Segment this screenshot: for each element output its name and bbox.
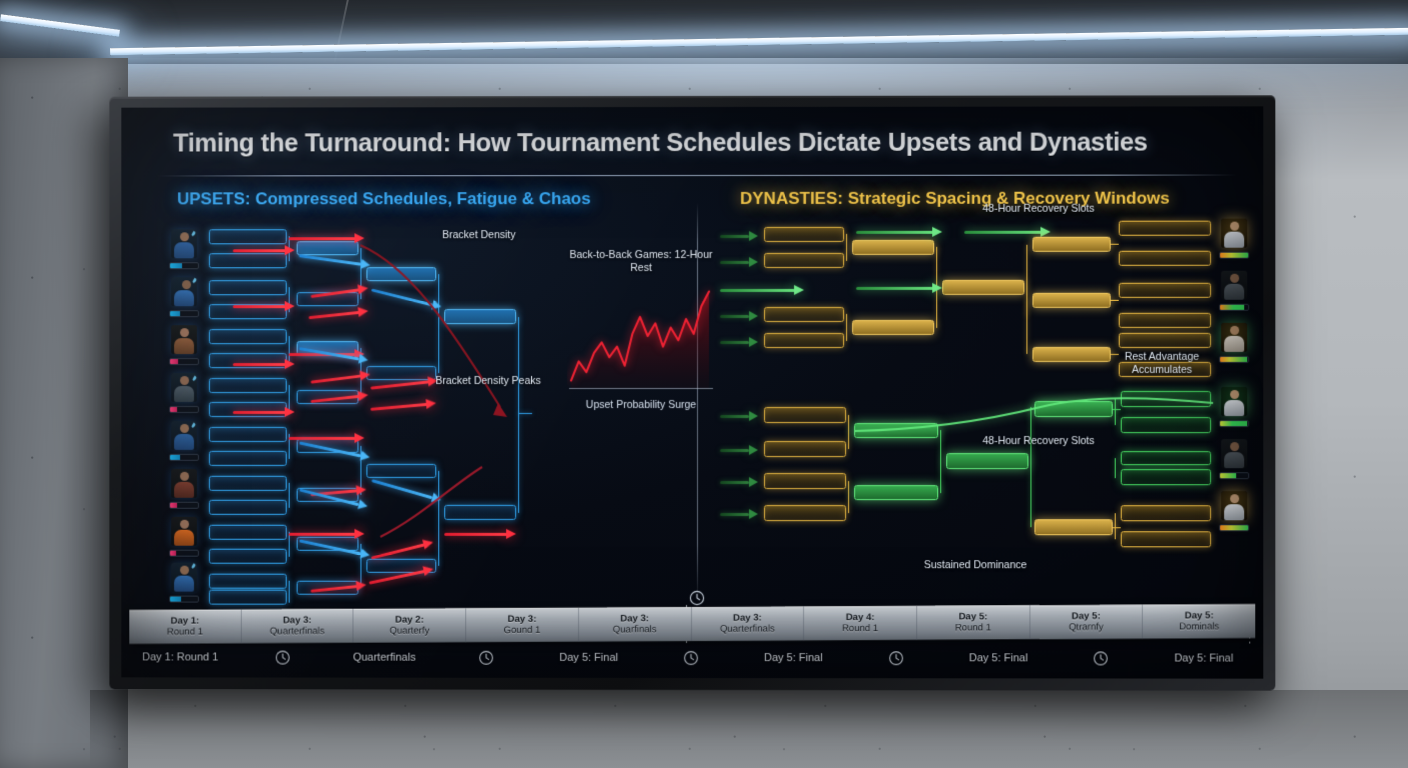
bracket-slot bbox=[764, 473, 846, 489]
timeline-segment-round: Quarterfy bbox=[390, 625, 430, 637]
bracket-slot bbox=[1119, 313, 1211, 328]
timeline-segment[interactable]: Day 4:Round 1 bbox=[804, 606, 917, 641]
upset-arrow bbox=[233, 409, 295, 416]
bracket-slot bbox=[764, 407, 846, 423]
stamina-bar bbox=[1219, 252, 1249, 259]
timeline-segment-day: Day 3: bbox=[283, 614, 312, 626]
title-divider bbox=[157, 175, 1237, 177]
bracket-slot bbox=[852, 320, 934, 335]
timeline-segment-day: Day 5: bbox=[1185, 610, 1214, 622]
timeline-sub-label: Day 5: Final bbox=[947, 652, 1050, 664]
recovery-arrow bbox=[856, 229, 942, 236]
avatar bbox=[169, 563, 199, 603]
bracket-slot bbox=[764, 441, 846, 457]
bracket-slot bbox=[852, 240, 934, 255]
clock-icon bbox=[640, 650, 742, 666]
ceiling-seam bbox=[333, 0, 349, 64]
bracket-slot bbox=[1119, 251, 1211, 266]
bracket-connector bbox=[289, 385, 290, 410]
left-panel-upsets: Bracket Density Bracket Density Peaks Ba… bbox=[121, 106, 1263, 107]
recovery-arrow bbox=[856, 285, 942, 292]
bracket-connector bbox=[848, 481, 849, 513]
display-screen: Timing the Turnaround: How Tournament Sc… bbox=[121, 106, 1263, 678]
timeline-segment[interactable]: Day 3:Gound 1 bbox=[466, 608, 579, 643]
bracket-slot bbox=[1034, 519, 1112, 535]
entry-arrow bbox=[720, 447, 758, 454]
bracket-slot bbox=[1032, 237, 1110, 252]
bracket-slot bbox=[209, 280, 287, 295]
timeline-segment[interactable]: Day 5:Qtrarnfy bbox=[1030, 605, 1143, 640]
stamina-bar bbox=[169, 596, 199, 603]
bracket-slot bbox=[764, 227, 844, 242]
stamina-bar bbox=[169, 262, 199, 269]
entry-arrow bbox=[720, 413, 758, 420]
recovery-arrow bbox=[964, 229, 1050, 236]
clock-icon bbox=[231, 650, 333, 666]
timeline-segment-day: Day 5: bbox=[1072, 610, 1101, 622]
bracket-slot bbox=[209, 427, 287, 442]
room-scene: Timing the Turnaround: How Tournament Sc… bbox=[0, 0, 1408, 768]
entry-arrow bbox=[720, 233, 758, 240]
stamina-bar bbox=[169, 550, 199, 557]
entry-arrow bbox=[720, 313, 758, 320]
bracket-slot bbox=[1119, 283, 1211, 298]
bracket-slot bbox=[764, 307, 844, 322]
bracket-connector bbox=[289, 483, 290, 508]
bracket-connector bbox=[1111, 244, 1119, 245]
timeline-sub-row: Day 1: Round 1QuarterfinalsDay 5: FinalD… bbox=[129, 646, 1255, 669]
left-panel-heading: UPSETS: Compressed Schedules, Fatigue & … bbox=[177, 189, 591, 209]
bracket-connector bbox=[1115, 513, 1116, 539]
stamina-bar bbox=[169, 406, 199, 413]
stamina-bar bbox=[1219, 304, 1249, 311]
entry-arrow bbox=[720, 287, 804, 294]
stamina-bar bbox=[169, 454, 199, 461]
timeline-segment[interactable]: Day 2:Quarterfy bbox=[354, 608, 466, 643]
label-rest-advantage: Rest Advantage Accumulates bbox=[1097, 351, 1227, 377]
avatar bbox=[169, 517, 199, 557]
timeline-segment[interactable]: Day 3:Quarterfinals bbox=[242, 609, 354, 644]
timeline-sub-label: Day 1: Round 1 bbox=[129, 651, 231, 663]
upset-curve-group bbox=[350, 237, 540, 497]
right-panel-dynasties: 48-Hour Recovery Slots bbox=[121, 106, 1263, 107]
bracket-slot bbox=[209, 525, 287, 540]
bracket-slot bbox=[209, 451, 287, 466]
chart-baseline bbox=[569, 388, 713, 389]
stamina-bar bbox=[169, 310, 199, 317]
timeline-segment-day: Day 5: bbox=[959, 611, 988, 623]
bracket-slot bbox=[209, 590, 287, 605]
stamina-bar bbox=[1219, 472, 1249, 479]
stamina-bar bbox=[1219, 524, 1249, 531]
avatar bbox=[169, 421, 199, 461]
bracket-slot bbox=[854, 485, 938, 500]
timeline-segment-round: Round 1 bbox=[955, 622, 991, 634]
bracket-slot bbox=[209, 329, 287, 344]
timeline-sub-label: Quarterfinals bbox=[333, 652, 435, 664]
bracket-slot bbox=[1121, 469, 1211, 485]
bracket-slot bbox=[1121, 505, 1211, 521]
timeline-segment-round: Dominals bbox=[1179, 621, 1219, 633]
avatar bbox=[1219, 439, 1249, 479]
chart-plot bbox=[567, 255, 715, 415]
timeline-segment-round: Quarterfinals bbox=[270, 626, 325, 638]
label-sustained-dominance: Sustained Dominance bbox=[880, 559, 1070, 572]
right-panel-heading: DYNASTIES: Strategic Spacing & Recovery … bbox=[740, 189, 1170, 209]
clock-icon bbox=[1050, 650, 1153, 666]
bracket-connector bbox=[1111, 300, 1119, 301]
bracket-connector bbox=[1026, 300, 1027, 354]
timeline-segment-round: Gound 1 bbox=[504, 625, 541, 637]
bracket-slot bbox=[209, 574, 287, 589]
timeline-bar[interactable]: Day 1:Round 1Day 3:QuarterfinalsDay 2:Qu… bbox=[129, 604, 1255, 644]
upset-arrow bbox=[233, 361, 295, 368]
stamina-bar bbox=[169, 502, 199, 509]
timeline-sub-label: Day 5: Final bbox=[538, 652, 640, 664]
label-recovery-slots-bottom: 48-Hour Recovery Slots bbox=[980, 435, 1096, 448]
timeline-sub-label: Day 5: Final bbox=[1152, 652, 1255, 664]
timeline-segment[interactable]: Day 3:Quarterfinals bbox=[692, 606, 805, 641]
clock-icon bbox=[845, 650, 948, 666]
avatar bbox=[169, 277, 199, 317]
bracket-connector bbox=[1115, 458, 1116, 478]
timeline-segment-day: Day 4: bbox=[846, 612, 875, 624]
stamina-bar bbox=[169, 358, 199, 365]
entry-arrow bbox=[720, 339, 758, 346]
bracket-connector bbox=[846, 234, 847, 261]
timeline-segment-round: Round 1 bbox=[842, 623, 878, 635]
bracket-slot bbox=[1121, 451, 1211, 465]
timeline-segment-round: Quarfinals bbox=[613, 624, 657, 636]
bracket-connector bbox=[846, 314, 847, 341]
bracket-slot bbox=[764, 333, 844, 348]
bracket-slot bbox=[1119, 333, 1211, 348]
bracket-slot bbox=[1121, 531, 1211, 547]
floor-shadow bbox=[90, 690, 1408, 768]
timeline-segment-round: Qtrarnfy bbox=[1069, 622, 1104, 634]
timeline-segment-day: Day 3: bbox=[508, 613, 537, 625]
label-recovery-slots-top: 48-Hour Recovery Slots bbox=[980, 203, 1096, 216]
timeline-segment[interactable]: Day 5:Round 1 bbox=[917, 605, 1030, 640]
label-bracket-density: Bracket Density bbox=[442, 229, 515, 242]
avatar bbox=[169, 373, 199, 413]
bracket-slot bbox=[1119, 221, 1211, 236]
avatar bbox=[169, 469, 199, 509]
bracket-slot bbox=[209, 549, 287, 564]
timeline-segment-round: Round 1 bbox=[167, 627, 203, 639]
timeline-segment[interactable]: Day 3:Quarfinals bbox=[579, 607, 692, 642]
timeline-segment-round: Quarterfinals bbox=[720, 624, 775, 636]
bracket-slot bbox=[942, 280, 1024, 295]
entry-arrow bbox=[720, 259, 758, 266]
avatar bbox=[1219, 219, 1249, 259]
chart-xlabel: Upset Probability Surge bbox=[563, 399, 719, 411]
timeline-segment-day: Day 2: bbox=[395, 614, 424, 626]
bracket-slot bbox=[209, 476, 287, 491]
timeline-segment-day: Day 1: bbox=[171, 615, 200, 627]
timeline-segment[interactable]: Day 1:Round 1 bbox=[129, 609, 241, 644]
avatar bbox=[169, 325, 199, 365]
avatar bbox=[1219, 387, 1249, 427]
bracket-connector bbox=[289, 581, 290, 603]
label-bracket-density-peaks: Bracket Density Peaks bbox=[428, 375, 548, 388]
timeline-segment-day: Day 3: bbox=[733, 612, 762, 624]
upset-arrow bbox=[233, 247, 295, 254]
bracket-slot bbox=[764, 253, 844, 268]
upset-arrow bbox=[444, 531, 516, 538]
bracket-slot bbox=[209, 253, 287, 268]
avatar bbox=[1219, 491, 1249, 531]
upset-arrow bbox=[233, 303, 295, 310]
timeline-sub-label: Day 5: Final bbox=[742, 652, 844, 664]
avatar bbox=[1219, 271, 1249, 311]
bracket-slot bbox=[444, 505, 516, 520]
timeline-segment-day: Day 3: bbox=[620, 613, 649, 625]
stamina-bar bbox=[1219, 420, 1249, 427]
bracket-slot bbox=[209, 500, 287, 515]
bracket-slot bbox=[209, 229, 287, 244]
divider-clock-icon bbox=[689, 590, 706, 607]
entry-arrow bbox=[720, 511, 758, 518]
bracket-slot bbox=[1032, 293, 1110, 308]
wall-display-bezel: Timing the Turnaround: How Tournament Sc… bbox=[109, 95, 1275, 690]
timeline-segment[interactable]: Day 5:Dominals bbox=[1143, 604, 1255, 639]
bracket-slot bbox=[209, 378, 287, 393]
avatar bbox=[169, 229, 199, 269]
clock-icon bbox=[435, 650, 537, 666]
upset-probability-chart: Back-to-Back Games: 12-Hour Rest Upset P… bbox=[567, 255, 715, 415]
bracket-slot bbox=[946, 453, 1028, 469]
page-title: Timing the Turnaround: How Tournament Sc… bbox=[173, 128, 1223, 158]
entry-arrow bbox=[720, 479, 758, 486]
bracket-slot bbox=[764, 505, 846, 521]
